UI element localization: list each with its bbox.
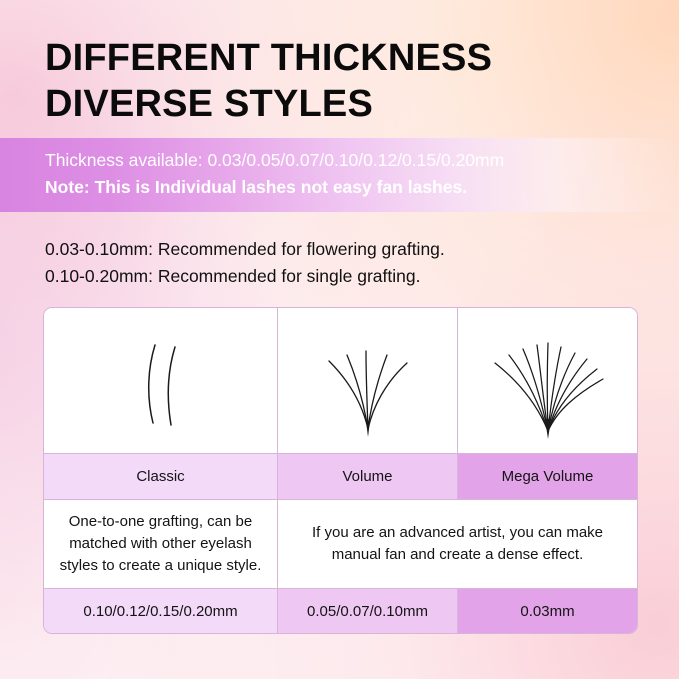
two-single-lashes-icon: [44, 308, 277, 453]
lash-style-comparison-table: Classic Volume Mega Volume One-to-one gr…: [43, 307, 638, 634]
page-title-line-2: DIVERSE STYLES: [45, 82, 645, 128]
label-cell-mega-volume: Mega Volume: [458, 454, 637, 499]
recommendation-flowering: 0.03-0.10mm: Recommended for flowering g…: [45, 236, 645, 263]
volume-illustration-cell: [278, 308, 458, 453]
thickness-banner: Thickness available: 0.03/0.05/0.07/0.10…: [0, 138, 679, 212]
mega-volume-fan-icon: [458, 308, 637, 453]
table-row-labels: Classic Volume Mega Volume: [44, 454, 637, 500]
description-text-volume: If you are an advanced artist, you can m…: [292, 522, 623, 566]
product-infographic: DIFFERENT THICKNESS DIVERSE STYLES Thick…: [0, 0, 679, 679]
table-row-descriptions: One-to-one grafting, can be matched with…: [44, 500, 637, 589]
thickness-cell-volume: 0.05/0.07/0.10mm: [278, 589, 458, 633]
thickness-cell-classic: 0.10/0.12/0.15/0.20mm: [44, 589, 278, 633]
description-cell-volume: If you are an advanced artist, you can m…: [278, 500, 637, 588]
volume-fan-icon: [278, 308, 457, 453]
thickness-text-classic: 0.10/0.12/0.15/0.20mm: [83, 603, 237, 620]
table-row-thickness: 0.10/0.12/0.15/0.20mm 0.05/0.07/0.10mm 0…: [44, 589, 637, 633]
thickness-cell-mega-volume: 0.03mm: [458, 589, 637, 633]
table-row-illustrations: [44, 308, 637, 454]
page-title-line-1: DIFFERENT THICKNESS: [45, 36, 645, 82]
label-cell-volume: Volume: [278, 454, 458, 499]
description-text-classic: One-to-one grafting, can be matched with…: [58, 511, 263, 576]
thickness-text-volume: 0.05/0.07/0.10mm: [307, 603, 428, 620]
recommendation-list: 0.03-0.10mm: Recommended for flowering g…: [45, 236, 645, 289]
label-text-volume: Volume: [342, 468, 392, 485]
label-text-mega-volume: Mega Volume: [502, 468, 594, 485]
description-cell-classic: One-to-one grafting, can be matched with…: [44, 500, 278, 588]
thickness-banner-content: Thickness available: 0.03/0.05/0.07/0.10…: [45, 147, 655, 201]
label-cell-classic: Classic: [44, 454, 278, 499]
recommendation-single: 0.10-0.20mm: Recommended for single graf…: [45, 263, 645, 290]
label-text-classic: Classic: [136, 468, 184, 485]
page-title: DIFFERENT THICKNESS DIVERSE STYLES: [45, 36, 645, 127]
thickness-text-mega-volume: 0.03mm: [520, 603, 574, 620]
thickness-available-text: Thickness available: 0.03/0.05/0.07/0.10…: [45, 147, 655, 174]
mega-volume-illustration-cell: [458, 308, 637, 453]
banner-note-text: Note: This is Individual lashes not easy…: [45, 174, 655, 201]
classic-illustration-cell: [44, 308, 278, 453]
